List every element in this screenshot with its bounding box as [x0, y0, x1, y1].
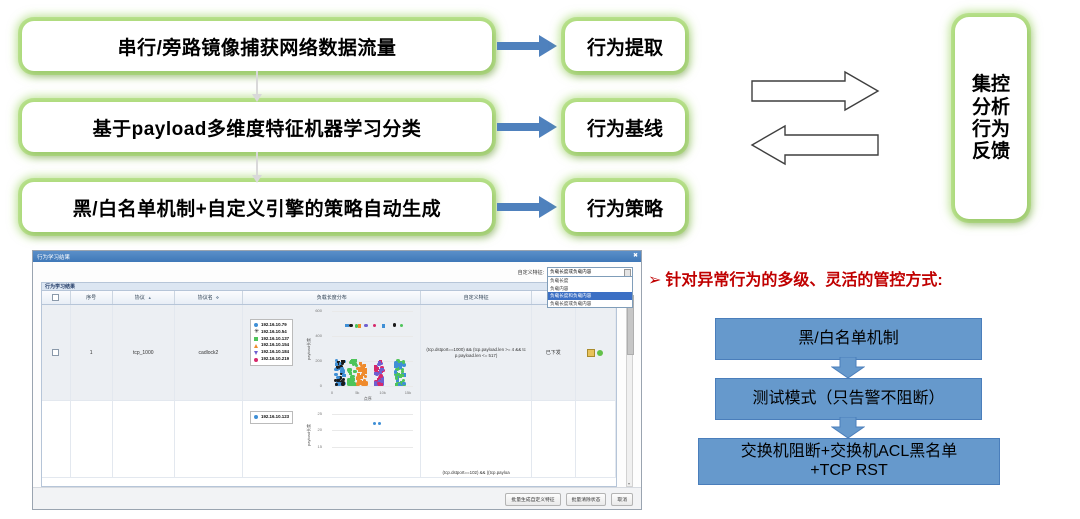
flow-main-box-2: 基于payload多维度特征机器学习分类 [22, 102, 492, 152]
control-step-box-1: 黑/白名单机制 [715, 318, 982, 360]
flow-main-box-3: 黑/白名单机制+自定义引擎的策略自动生成 [22, 182, 492, 232]
feature-option-1[interactable]: 负载内容 [548, 285, 632, 293]
app-footer: 批量生成自定义特征 批量清除状态 取消 [33, 487, 641, 510]
x-tick-label: 5k [355, 390, 359, 395]
scatter-point [353, 370, 356, 373]
scatter-legend-1: 192.16.10.79 ✳192.16.10.54 192.16.10.137… [250, 319, 293, 366]
row-chart-cell: 192.16.10.123 payload长度 252015 [243, 401, 421, 478]
right-arrow-icon-3 [497, 196, 559, 218]
row-checkbox-cell[interactable] [42, 401, 70, 478]
feedback-line-4: 反馈 [972, 141, 1010, 163]
row-actions [575, 401, 615, 478]
x-tick-label: 15k [405, 390, 411, 395]
scatter-axes-1: payload长度 点序 020040060005k10k15k [322, 311, 413, 386]
row-checkbox-cell[interactable] [42, 305, 70, 401]
grid-scrollbar[interactable]: ▴ ▾ [626, 282, 633, 487]
outline-arrow-right-icon [750, 70, 880, 112]
scatter-point [349, 361, 352, 364]
row-expression: (tcp.dstport==1000) && (tcp.payload.len … [421, 305, 531, 401]
control-step-label-1: 黑/白名单机制 [798, 330, 898, 348]
deploy-icon[interactable] [597, 350, 603, 356]
control-step-box-2: 测试模式（只告警不阻断） [715, 378, 982, 420]
feature-option-2[interactable]: 负载长度和负载内容 [548, 292, 632, 300]
gridline [332, 430, 413, 431]
y-tick-label: 20 [310, 427, 322, 432]
col-protocol-name[interactable]: 协议名✥ [174, 291, 242, 305]
app-window-title: 行为学习结果 [37, 253, 70, 261]
flow-output-label-3: 行为策略 [587, 194, 663, 221]
flow-main-label-2: 基于payload多维度特征机器学习分类 [93, 114, 422, 141]
scatter-point [374, 365, 377, 368]
scatter-point [360, 376, 363, 379]
control-heading: ➢针对异常行为的多级、灵活的管控方式: [648, 266, 943, 290]
scatter-point [364, 375, 367, 378]
flow-main-box-1: 串行/旁路镜像捕获网络数据流量 [22, 21, 492, 71]
row-status [531, 401, 575, 478]
row-index: 1 [70, 305, 112, 401]
row-protocol-name: cadlock2 [174, 305, 242, 401]
select-all-header[interactable] [42, 291, 70, 305]
y-tick-label: 15 [310, 444, 322, 449]
y-tick-label: 25 [310, 411, 322, 416]
gridline [332, 336, 413, 337]
scatter-point [342, 374, 345, 377]
col-custom-feature[interactable]: 自定义特征 [421, 291, 531, 305]
scatter-point [335, 363, 338, 366]
cancel-button[interactable]: 取消 [611, 493, 633, 506]
close-icon[interactable]: ✖ [633, 252, 638, 259]
scatter-point [377, 382, 380, 385]
x-tick-label: 10k [379, 390, 385, 395]
bullet-arrow-icon: ➢ [648, 272, 661, 289]
legend-marker-icon [254, 358, 258, 362]
scatter-point [401, 374, 404, 377]
scatter-point [345, 324, 348, 327]
scroll-down-icon[interactable]: ▾ [628, 481, 630, 486]
scatter-point [334, 368, 337, 371]
outline-arrow-left-icon [750, 124, 880, 166]
scatter-point [341, 382, 344, 385]
results-grid: 序号 协议▲ 协议名✥ 负载长度分布 自定义特征 状态 1 [41, 291, 617, 487]
feature-select-value: 负载长度或负载内容 [550, 269, 591, 274]
legend-marker-icon [254, 323, 258, 327]
scatter-point [399, 366, 402, 369]
slide-canvas: 串行/旁路镜像捕获网络数据流量 基于payload多维度特征机器学习分类 黑/白… [0, 0, 1080, 519]
app-body: 自定义特征: 负载长度或负载内容 负载长度 负载内容 负载长度和负载内容 负载长… [33, 262, 641, 510]
legend-marker-icon [254, 415, 258, 419]
scatter-point [400, 324, 403, 327]
feature-option-0[interactable]: 负载长度 [548, 277, 632, 285]
scatter-point [379, 374, 382, 377]
scatter-point [359, 362, 362, 365]
gridline [332, 311, 413, 312]
table-row[interactable]: 192.16.10.123 payload长度 252015 (tcp.dstp… [42, 401, 616, 478]
scatter-point [352, 383, 355, 386]
row-status: 已下发 [531, 305, 575, 401]
col-payload-distribution[interactable]: 负载长度分布 [243, 291, 421, 305]
row-actions [575, 305, 615, 401]
row-protocol-name [174, 401, 242, 478]
scatter-point [398, 363, 401, 366]
x-tick-label: 0 [331, 390, 333, 395]
table-row[interactable]: 1 tcp_1000 cadlock2 192.16.10.79 ✳192.16… [42, 305, 616, 401]
scatter-point [349, 324, 352, 327]
scatter-point [395, 376, 398, 379]
flow-output-label-1: 行为提取 [587, 33, 663, 60]
feature-select-options[interactable]: 负载长度 负载内容 负载长度和负载内容 负载长度或负载内容 [547, 276, 633, 308]
scatter-point [348, 369, 351, 372]
scatter-point [378, 422, 381, 425]
grid-panel-title: 行为学习结果 [41, 282, 617, 291]
feedback-line-2: 分析 [972, 97, 1010, 119]
scatter-point [336, 379, 339, 382]
flow-output-label-2: 行为基线 [587, 114, 663, 141]
flow-main-label-3: 黑/白名单机制+自定义引擎的策略自动生成 [73, 194, 441, 221]
row-checkbox[interactable] [52, 349, 59, 356]
legend-marker-icon [254, 351, 258, 355]
flow-output-box-3: 行为策略 [565, 182, 685, 232]
y-tick-label: 400 [310, 333, 322, 338]
y-tick-label: 600 [310, 308, 322, 313]
scatter-point [395, 383, 398, 386]
feature-option-3[interactable]: 负载长度或负载内容 [548, 300, 632, 308]
flow-main-label-1: 串行/旁路镜像捕获网络数据流量 [118, 33, 397, 60]
right-arrow-icon-1 [497, 35, 559, 57]
scatter-point [358, 382, 361, 385]
legend-marker-icon [254, 344, 258, 348]
row-expression: (tcp.dstport==102) && ((tcp.payloa [421, 401, 531, 478]
legend-marker-icon: ✳ [254, 330, 258, 334]
scatter-point [348, 378, 351, 381]
control-heading-text: 针对异常行为的多级、灵活的管控方式: [665, 272, 942, 289]
gridline [332, 414, 413, 415]
scatter-point [334, 373, 337, 376]
app-window: 行为学习结果 ✖ 自定义特征: 负载长度或负载内容 负载长度 负载内容 负载长度… [32, 250, 642, 510]
batch-clear-status-button[interactable]: 批量清除状态 [566, 493, 607, 506]
feedback-line-1: 集控 [972, 74, 1010, 96]
flow-output-box-1: 行为提取 [565, 21, 685, 71]
y-axis-label-1: payload长度 [306, 337, 312, 359]
control-step-box-3: 交换机阻断+交换机ACL黑名单 +TCP RST [698, 438, 1000, 485]
scatter-legend-2: 192.16.10.123 [250, 411, 293, 424]
select-all-checkbox[interactable] [52, 294, 59, 301]
row-index [70, 401, 112, 478]
row-protocol [112, 401, 174, 478]
feedback-line-3: 行为 [972, 119, 1010, 141]
row-protocol: tcp_1000 [112, 305, 174, 401]
flow-connector-1-2 [256, 71, 258, 95]
right-arrow-icon-2 [497, 116, 559, 138]
scatter-point [379, 369, 382, 372]
flow-connector-2-3 [256, 152, 258, 176]
scatter-point [394, 364, 397, 367]
control-step-label-2: 测试模式（只告警不阻断） [752, 390, 944, 408]
scatter-point [382, 324, 385, 327]
col-protocol[interactable]: 协议▲ [112, 291, 174, 305]
control-step-label-3: 交换机阻断+交换机ACL黑名单 +TCP RST [741, 443, 957, 480]
col-index[interactable]: 序号 [70, 291, 112, 305]
app-titlebar: 行为学习结果 ✖ [33, 251, 641, 262]
scatter-plot-1: 192.16.10.79 ✳192.16.10.54 192.16.10.137… [244, 305, 419, 400]
scatter-point [342, 378, 345, 381]
scatter-point [365, 382, 368, 385]
y-tick-label: 0 [310, 383, 322, 388]
legend-marker-icon [254, 337, 258, 341]
row-chart-cell: 192.16.10.79 ✳192.16.10.54 192.16.10.137… [243, 305, 421, 401]
gridline [332, 447, 413, 448]
scatter-point [358, 324, 361, 327]
scatter-point [393, 323, 396, 326]
scatter-point [373, 324, 376, 327]
flow-feedback-box: 集控 分析 行为 反馈 [955, 17, 1027, 219]
flow-output-box-2: 行为基线 [565, 102, 685, 152]
scatter-point [363, 368, 366, 371]
feature-select-label: 自定义特征: [518, 269, 544, 276]
scatter-point [364, 324, 367, 327]
y-tick-label: 200 [310, 358, 322, 363]
scatter-axes-2: payload长度 252015 [322, 407, 413, 463]
scatter-plot-2: 192.16.10.123 payload长度 252015 [244, 401, 419, 477]
sort-asc-icon[interactable]: ▲ [148, 295, 152, 300]
scatter-point [373, 422, 376, 425]
grid-header-row: 序号 协议▲ 协议名✥ 负载长度分布 自定义特征 状态 [42, 291, 616, 305]
batch-generate-button[interactable]: 批量生成自定义特征 [505, 493, 560, 506]
sort-icon[interactable]: ✥ [216, 295, 219, 300]
edit-icon[interactable] [587, 349, 595, 357]
scatter-point [378, 361, 381, 364]
